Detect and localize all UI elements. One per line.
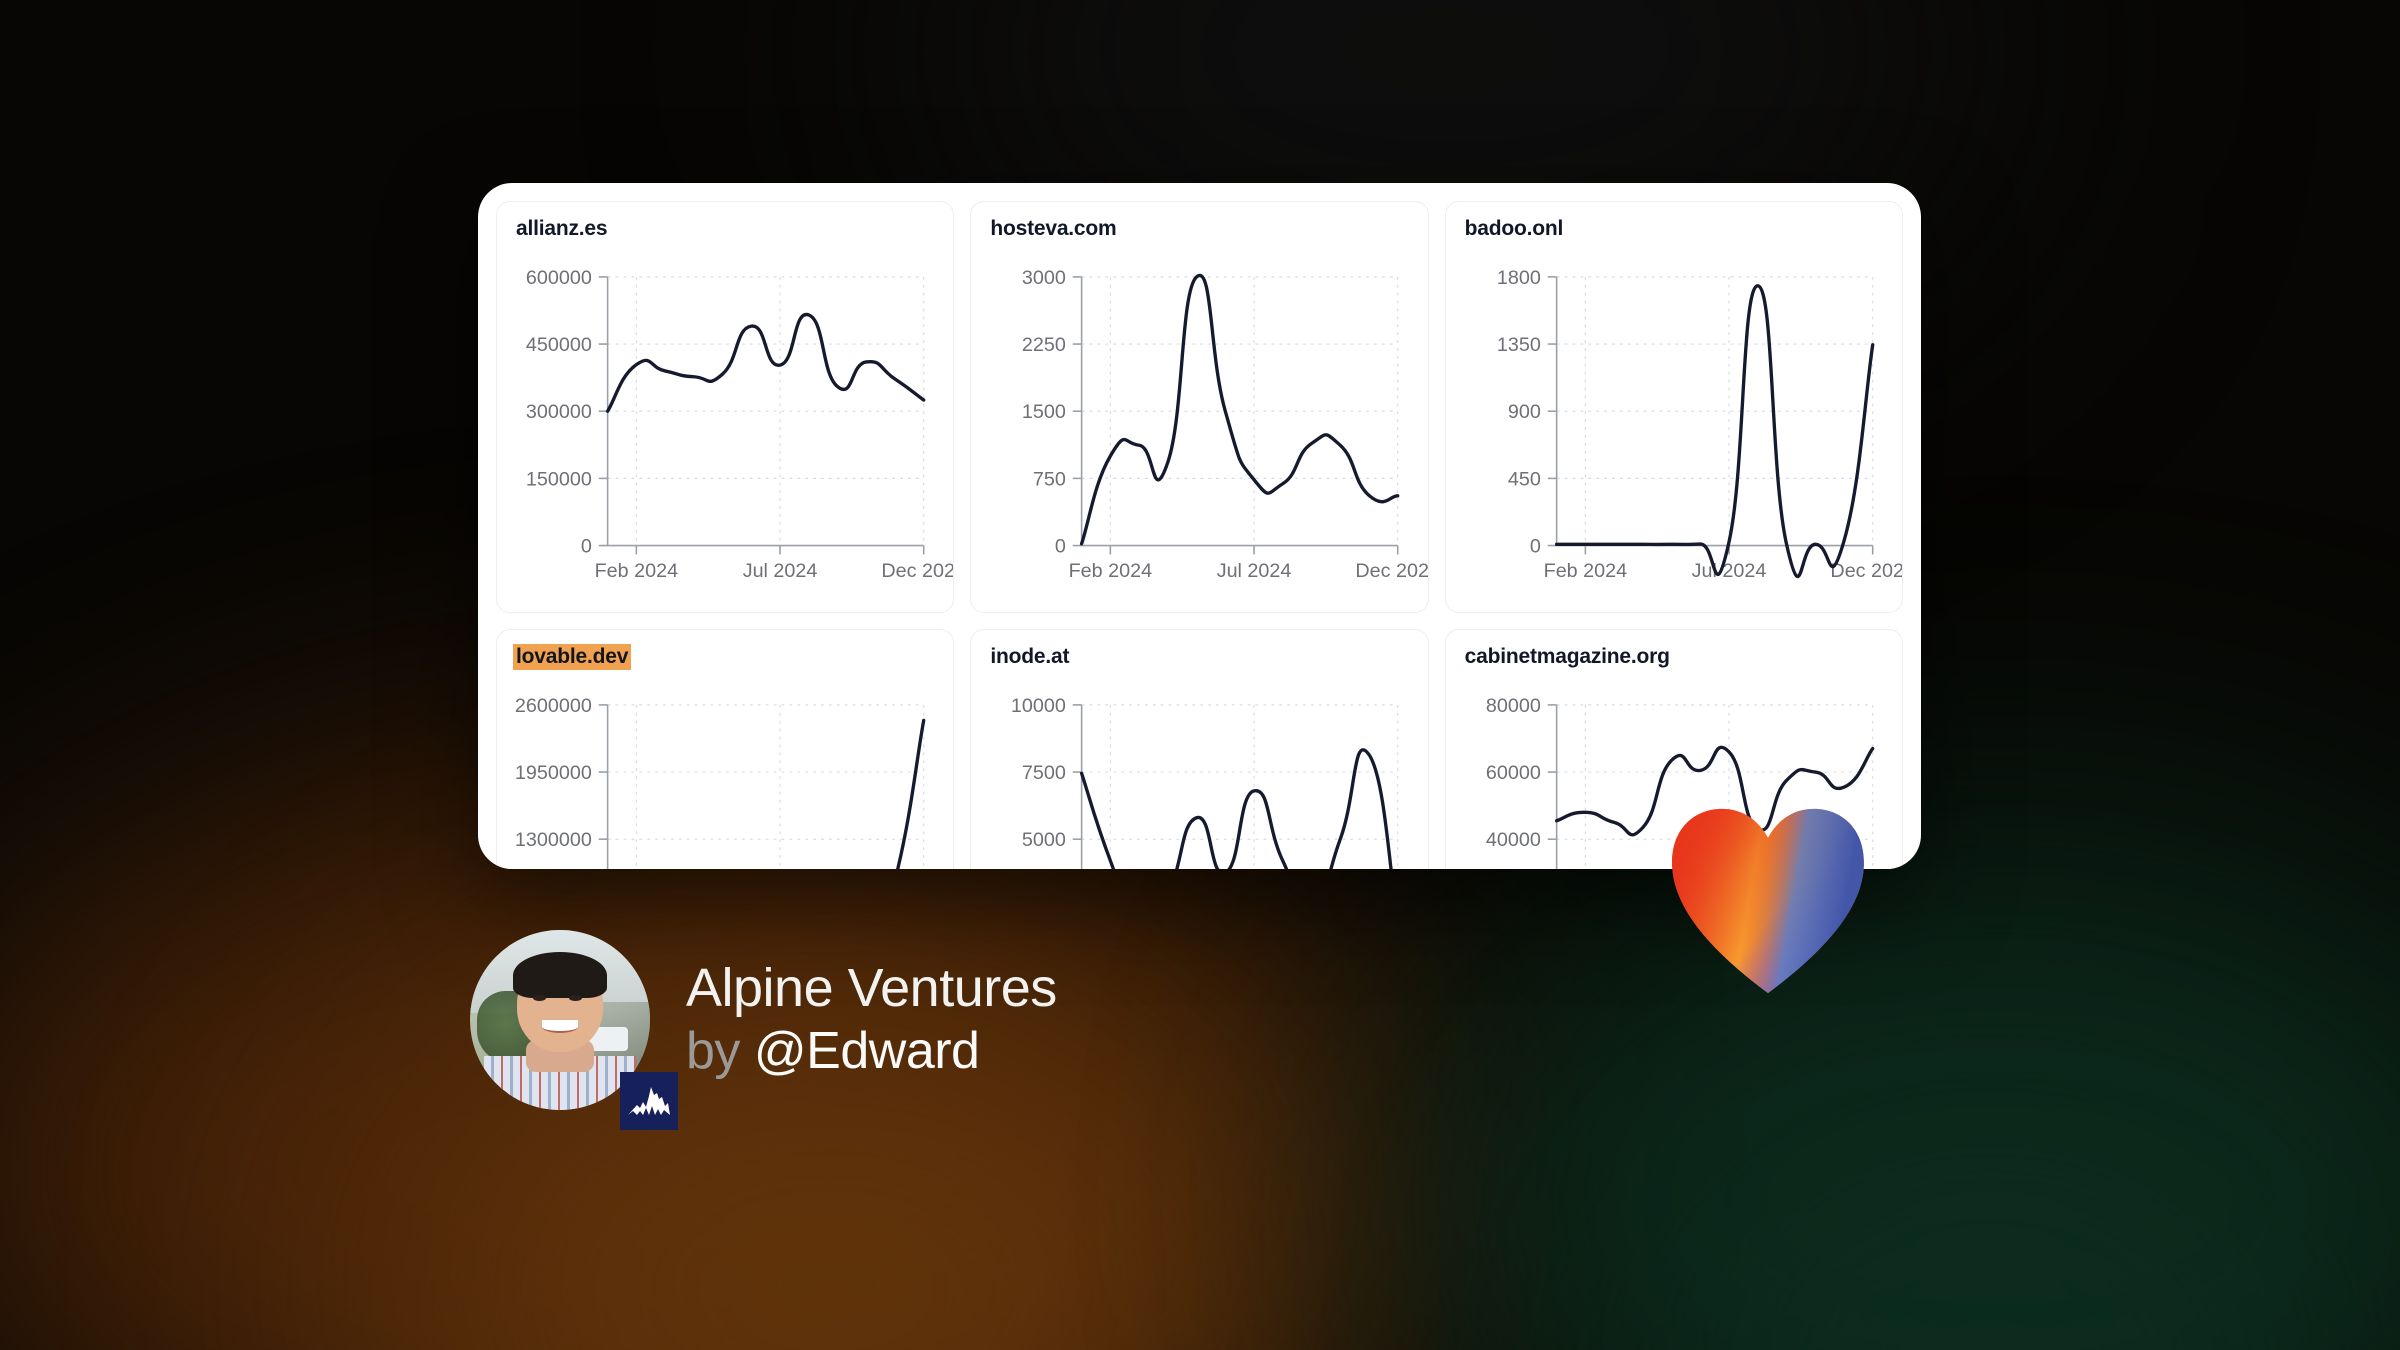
svg-text:2600000: 2600000 xyxy=(515,695,592,717)
heart-logo xyxy=(1672,807,1864,995)
svg-text:1300000: 1300000 xyxy=(515,829,592,851)
svg-text:10000: 10000 xyxy=(1011,695,1066,717)
svg-text:900: 900 xyxy=(1508,401,1541,423)
svg-text:450000: 450000 xyxy=(526,334,592,356)
svg-text:150000: 150000 xyxy=(526,468,592,490)
svg-text:Feb 2024: Feb 2024 xyxy=(1543,560,1626,582)
svg-text:60000: 60000 xyxy=(1486,762,1541,784)
handle: @Edward xyxy=(754,1022,980,1080)
svg-text:600000: 600000 xyxy=(526,267,592,289)
svg-text:450: 450 xyxy=(1508,468,1541,490)
avatar-wrap xyxy=(470,930,650,1110)
chart-card[interactable]: lovable.dev650000130000019500002600000Fe… xyxy=(496,629,954,869)
series-line xyxy=(608,720,924,869)
chart-card[interactable]: allianz.es0150000300000450000600000Feb 2… xyxy=(496,201,954,613)
series-line xyxy=(1082,750,1398,869)
svg-text:Feb 2024: Feb 2024 xyxy=(595,560,678,582)
mountain-icon xyxy=(627,1084,671,1118)
avatar-eye-right xyxy=(569,995,582,1001)
svg-text:1800: 1800 xyxy=(1497,267,1541,289)
footer: Alpine Ventures by @Edward xyxy=(470,930,1057,1110)
svg-text:Jul 2024: Jul 2024 xyxy=(743,560,818,582)
avatar-smile xyxy=(542,1020,578,1033)
avatar-hair xyxy=(513,952,607,999)
avatar-badge xyxy=(620,1072,678,1130)
svg-text:7500: 7500 xyxy=(1022,762,1066,784)
svg-text:0: 0 xyxy=(1055,535,1066,557)
byline: by @Edward xyxy=(686,1021,1057,1082)
svg-text:0: 0 xyxy=(1529,535,1540,557)
chart-card[interactable]: badoo.onl045090013501800Feb 2024Jul 2024… xyxy=(1445,201,1903,613)
account-name: Alpine Ventures xyxy=(686,957,1057,1021)
svg-text:Feb 2024: Feb 2024 xyxy=(1069,560,1152,582)
svg-text:5000: 5000 xyxy=(1022,829,1066,851)
series-line xyxy=(1082,275,1398,543)
svg-text:Jul 2024: Jul 2024 xyxy=(1691,560,1766,582)
svg-text:1500: 1500 xyxy=(1022,401,1066,423)
svg-text:0: 0 xyxy=(581,535,592,557)
svg-text:Jul 2024: Jul 2024 xyxy=(1217,560,1292,582)
chart-title: cabinetmagazine.org xyxy=(1462,644,1673,670)
svg-text:40000: 40000 xyxy=(1486,829,1541,851)
svg-text:1950000: 1950000 xyxy=(515,762,592,784)
chart-grid: allianz.es0150000300000450000600000Feb 2… xyxy=(478,183,1921,869)
dashboard-card: allianz.es0150000300000450000600000Feb 2… xyxy=(478,183,1921,869)
svg-text:300000: 300000 xyxy=(526,401,592,423)
chart-title: inode.at xyxy=(987,644,1072,670)
chart-plot-area: 650000130000019500002600000Feb 2024Jul 2… xyxy=(497,674,953,869)
chart-title: allianz.es xyxy=(513,216,610,242)
chart-title: hosteva.com xyxy=(987,216,1119,242)
svg-text:Dec 2024: Dec 2024 xyxy=(1356,560,1428,582)
svg-text:Dec 2024: Dec 2024 xyxy=(1830,560,1902,582)
chart-card[interactable]: hosteva.com0750150022503000Feb 2024Jul 2… xyxy=(970,201,1428,613)
chart-title: lovable.dev xyxy=(513,644,631,670)
series-line xyxy=(1556,286,1872,577)
svg-text:80000: 80000 xyxy=(1486,695,1541,717)
chart-plot-area: 0150000300000450000600000Feb 2024Jul 202… xyxy=(497,246,953,612)
svg-text:Dec 2024: Dec 2024 xyxy=(881,560,953,582)
chart-plot-area: 045090013501800Feb 2024Jul 2024Dec 2024 xyxy=(1446,246,1902,612)
svg-text:750: 750 xyxy=(1033,468,1066,490)
svg-text:1350: 1350 xyxy=(1497,334,1541,356)
chart-card[interactable]: inode.at25005000750010000Feb 2024Jul 202… xyxy=(970,629,1428,869)
avatar-eye-left xyxy=(533,995,546,1001)
by-word: by xyxy=(686,1022,740,1080)
chart-plot-area: 25005000750010000Feb 2024Jul 2024Dec 202… xyxy=(971,674,1427,869)
svg-text:3000: 3000 xyxy=(1022,267,1066,289)
chart-title: badoo.onl xyxy=(1462,216,1567,242)
svg-text:2250: 2250 xyxy=(1022,334,1066,356)
chart-plot-area: 0750150022503000Feb 2024Jul 2024Dec 2024 xyxy=(971,246,1427,612)
footer-text: Alpine Ventures by @Edward xyxy=(686,957,1057,1082)
series-line xyxy=(608,314,924,411)
